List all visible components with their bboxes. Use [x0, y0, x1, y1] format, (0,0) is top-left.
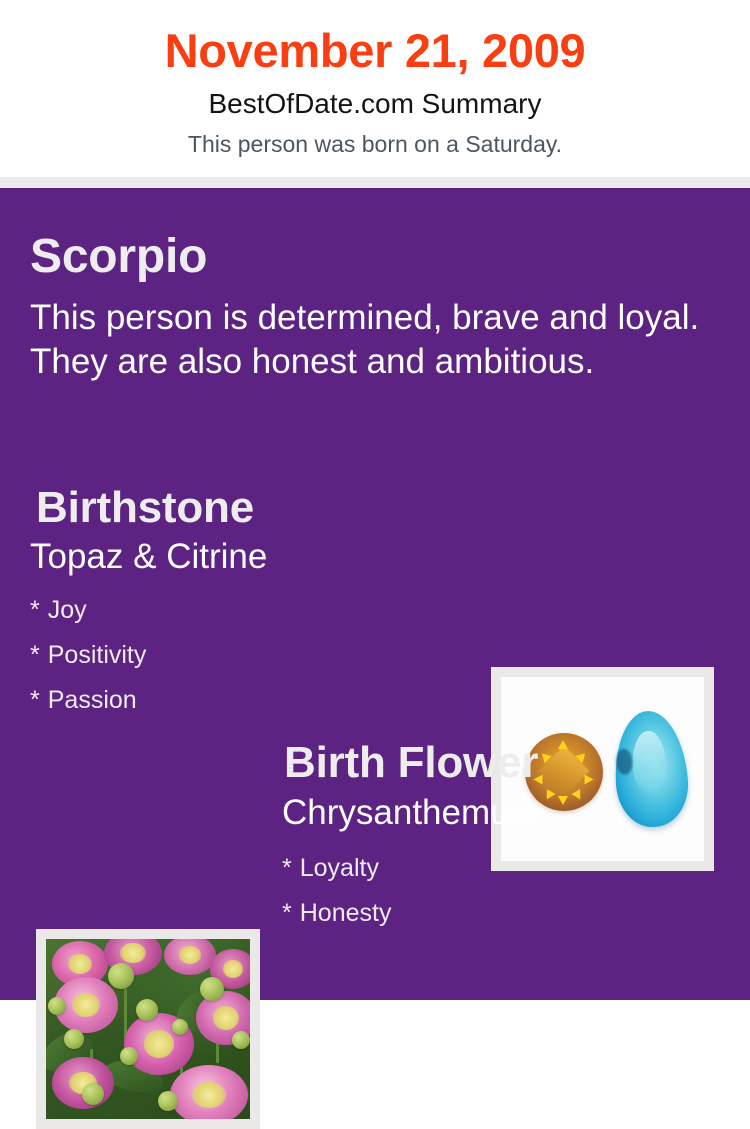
trait-label: Joy	[48, 596, 87, 624]
trait-label: Honesty	[300, 899, 392, 927]
birth-flower-heading: Birth Flower	[284, 737, 538, 789]
birth-flower-name: Chrysanthemum	[282, 792, 539, 834]
date-summary-card: November 21, 2009 BestOfDate.com Summary…	[0, 0, 750, 1000]
header-divider	[0, 177, 750, 188]
bullet-star-icon: *	[30, 686, 40, 714]
site-summary-subtitle: BestOfDate.com Summary	[0, 87, 750, 121]
zodiac-description: This person is determined, brave and loy…	[30, 296, 700, 384]
birthstone-name: Topaz & Citrine	[30, 536, 267, 578]
topaz-gem-icon	[611, 709, 691, 830]
bullet-star-icon: *	[282, 899, 292, 927]
birth-flower-image-frame	[36, 929, 260, 1129]
birthstone-trait-list: *Joy *Positivity *Passion	[30, 588, 450, 723]
list-item: *Loyalty	[282, 846, 702, 891]
zodiac-sign-heading: Scorpio	[30, 229, 207, 285]
bullet-star-icon: *	[30, 641, 40, 669]
card-header: November 21, 2009 BestOfDate.com Summary…	[0, 0, 750, 177]
list-item: *Joy	[30, 588, 450, 633]
list-item: *Honesty	[282, 891, 702, 936]
birthstone-heading: Birthstone	[36, 482, 254, 534]
page-title-date: November 21, 2009	[0, 23, 750, 79]
bullet-star-icon: *	[30, 596, 40, 624]
birth-flower-image	[46, 939, 250, 1119]
bullet-star-icon: *	[282, 854, 292, 882]
birth-flower-trait-list: *Loyalty *Honesty	[282, 846, 702, 936]
birth-day-note: This person was born on a Saturday.	[0, 130, 750, 159]
list-item: *Passion	[30, 678, 450, 723]
trait-label: Passion	[48, 686, 137, 714]
summary-panel: Scorpio This person is determined, brave…	[0, 188, 750, 1000]
list-item: *Positivity	[30, 633, 450, 678]
trait-label: Loyalty	[300, 854, 379, 882]
trait-label: Positivity	[48, 641, 147, 669]
